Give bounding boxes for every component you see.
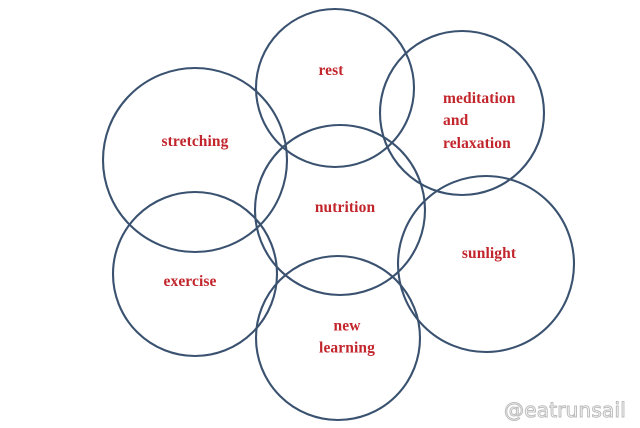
venn-circle-exercise <box>113 192 277 356</box>
venn-circle-meditation-and-relaxation <box>380 31 544 195</box>
venn-circle-rest <box>256 9 414 167</box>
venn-diagram: stretchingrestmeditation and relaxationn… <box>0 0 640 428</box>
venn-circles-layer <box>0 0 640 428</box>
venn-circle-new-learning <box>256 256 420 420</box>
venn-circle-sunlight <box>398 176 574 352</box>
venn-circle-nutrition <box>255 125 425 295</box>
